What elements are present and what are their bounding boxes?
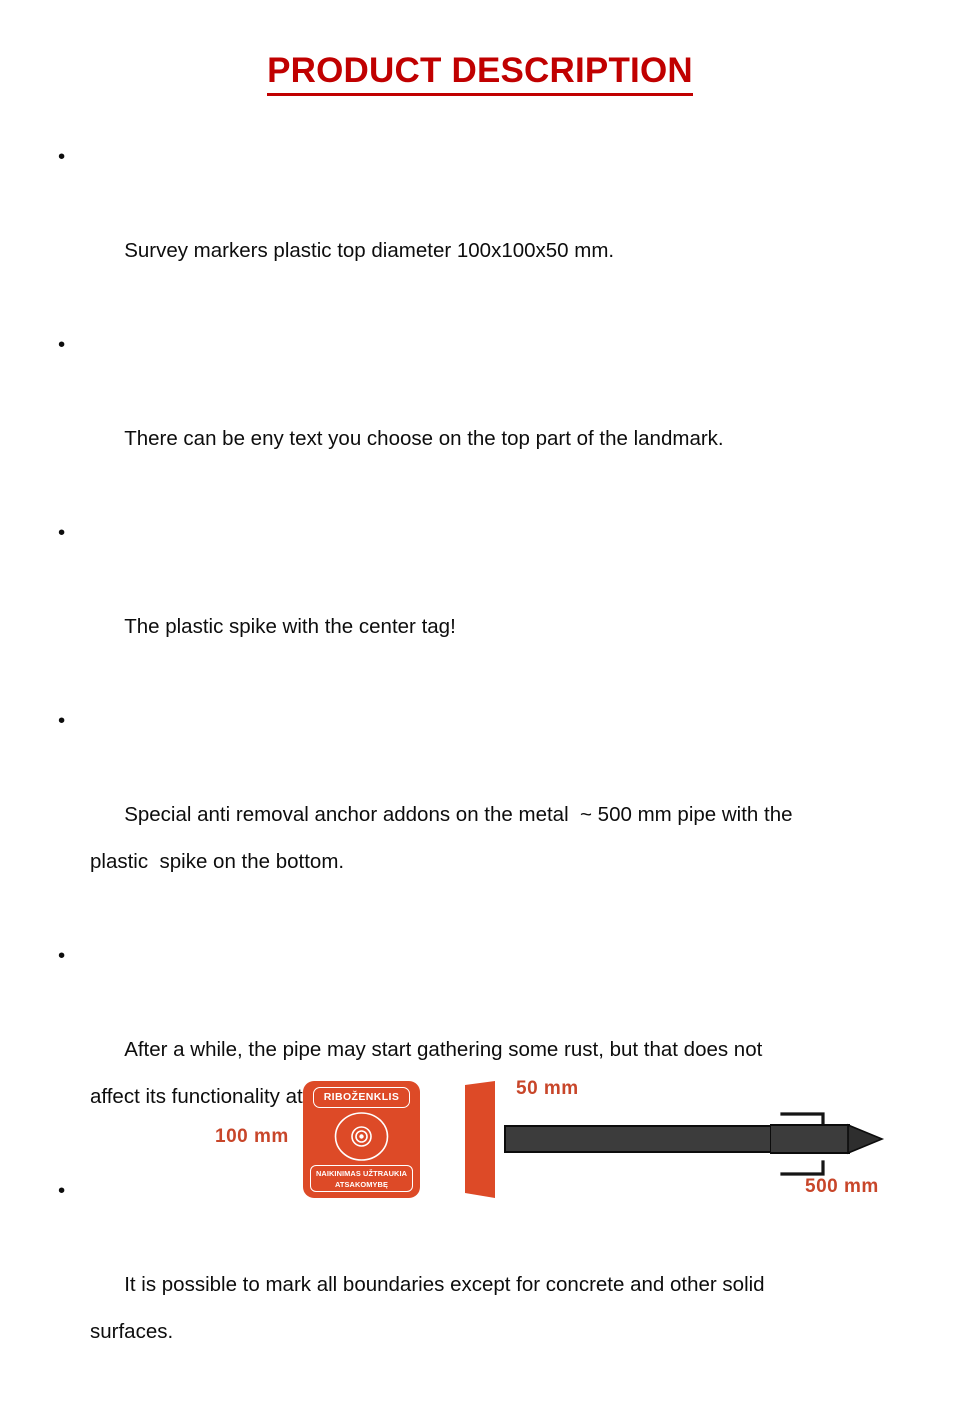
marker-title-text: RIBOŽENKLIS [324,1092,400,1103]
anchor-fin-lower [782,1162,823,1174]
marker-footer-box: NAIKINIMAS UŽTRAUKIA ATSAKOMYBĘ [310,1165,413,1192]
list-item-text: After a while, the pipe may start gather… [90,1038,762,1108]
bullet-marker-icon: • [58,1167,65,1214]
dimension-label-thickness: 50 mm [516,1078,579,1100]
list-item-text: Special anti removal anchor addons on th… [90,803,793,873]
list-item-text: There can be eny text you choose on the … [124,427,723,450]
marker-footer-line-2: ATSAKOMYBĘ [335,1179,388,1190]
slide-canvas: PRODUCT DESCRIPTION • Survey markers pla… [0,0,960,720]
bullet-marker-icon: • [58,133,65,180]
page-title: PRODUCT DESCRIPTION [267,52,693,96]
marker-plate-front: RIBOŽENKLIS NAIKINIMAS UŽTRAUKIA ATSAKOM… [303,1081,420,1198]
list-item-text: It is possible to mark all boundaries ex… [90,1273,765,1343]
spike-and-anchors [770,1096,920,1196]
list-item: • Special anti removal anchor addons on … [52,697,928,932]
center-target-icon [334,1112,389,1161]
marker-title-box: RIBOŽENKLIS [313,1087,410,1108]
bullet-list: • Survey markers plastic top diameter 10… [52,133,928,1402]
marker-footer-line-1: NAIKINIMAS UŽTRAUKIA [316,1168,407,1179]
list-item: • Survey markers plastic top diameter 10… [52,133,928,321]
bullet-marker-icon: • [58,932,65,979]
dimension-label-width: 100 mm [215,1126,289,1148]
list-item: • There can be eny text you choose on th… [52,321,928,509]
marker-plate-side [462,1081,498,1198]
list-item: • It is possible to mark all boundaries … [52,1167,928,1402]
bullet-marker-icon: • [58,321,65,368]
product-diagram: 100 mm 50 mm 500 mm RIBOŽENKLIS NAIKINIM… [0,530,960,720]
list-item-text: Survey markers plastic top diameter 100x… [124,239,614,262]
title-block: PRODUCT DESCRIPTION [0,52,960,96]
